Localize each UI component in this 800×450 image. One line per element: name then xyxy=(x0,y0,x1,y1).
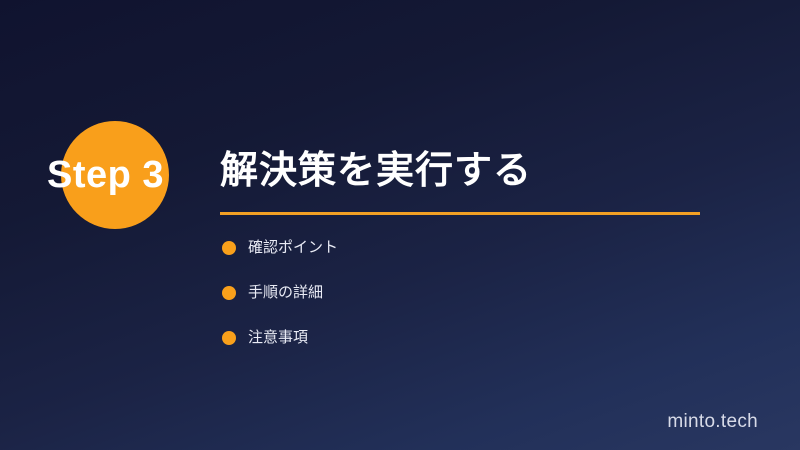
bullet-dot-icon xyxy=(222,331,236,345)
list-item: 確認ポイント xyxy=(222,238,702,283)
list-item: 手順の詳細 xyxy=(222,283,702,328)
bullet-dot-icon xyxy=(222,286,236,300)
bullet-list: 確認ポイント 手順の詳細 注意事項 xyxy=(222,238,702,373)
list-item-label: 確認ポイント xyxy=(248,238,338,258)
list-item-label: 手順の詳細 xyxy=(248,283,323,303)
list-item-label: 注意事項 xyxy=(248,328,308,348)
step-badge-label: Step 3 xyxy=(47,152,217,198)
title-divider xyxy=(220,212,700,215)
presentation-slide: Step 3 解決策を実行する 確認ポイント 手順の詳細 注意事項 minto.… xyxy=(0,0,800,450)
slide-title: 解決策を実行する xyxy=(220,146,532,196)
list-item: 注意事項 xyxy=(222,328,702,373)
bullet-dot-icon xyxy=(222,241,236,255)
footer-brand: minto.tech xyxy=(667,411,758,433)
